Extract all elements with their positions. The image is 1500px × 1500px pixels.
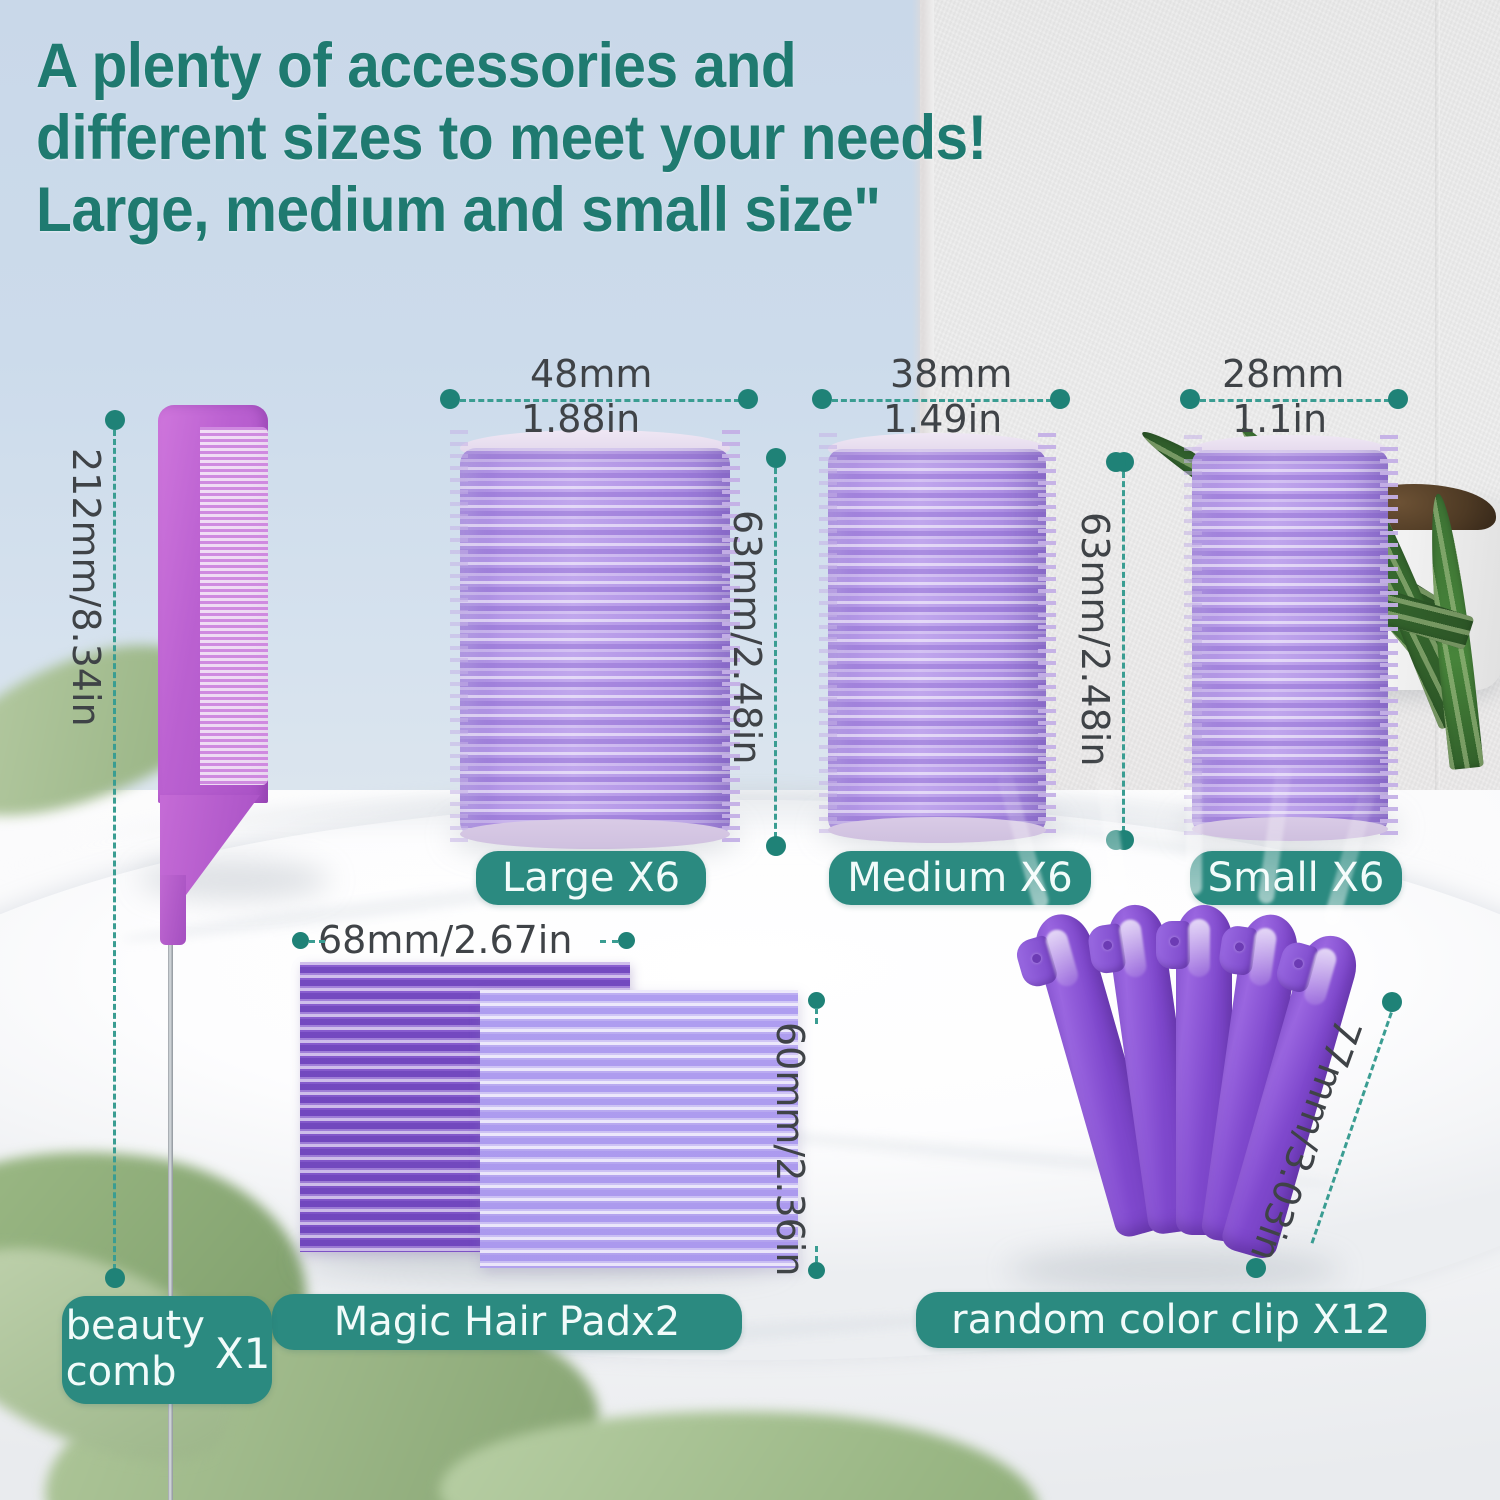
large-roller-label-text: Large X6 (502, 855, 680, 901)
dim-dot-pad-top (808, 992, 825, 1009)
roller-body (460, 448, 730, 838)
roller-body (828, 449, 1046, 833)
product-infographic: A plenty of accessories and different si… (0, 0, 1500, 1500)
dim-line-medium-height (1122, 472, 1125, 832)
dim-dot-comb-bottom (105, 1268, 125, 1288)
beauty-comb-label-lines: beauty comb (66, 1303, 205, 1395)
dim-dot-medium-left (812, 389, 832, 409)
dim-comb-length: 212mm/8.34in (64, 448, 108, 727)
dim-line-pad-height-b (815, 1246, 818, 1262)
hair-pad-label: Magic Hair Padx2 (272, 1294, 742, 1350)
dim-dot-large-bottom (766, 836, 786, 856)
comb-teeth (200, 427, 268, 785)
beauty-comb-label: beauty comb X1 (62, 1296, 272, 1404)
dim-dot-small-top (1106, 452, 1126, 472)
dim-dot-clip-top (1382, 992, 1402, 1012)
headline-line-2: different sizes to meet your needs! (36, 102, 1245, 174)
dim-small-in: 1.1in (1232, 397, 1327, 441)
dim-dot-small-left (1180, 389, 1200, 409)
small-roller-label: Small X6 (1190, 851, 1402, 905)
dim-line-comb (113, 430, 116, 1270)
dim-dot-comb-top (105, 410, 125, 430)
hair-pad-label-text: Magic Hair Padx2 (334, 1299, 680, 1345)
comb-tail-base (160, 875, 186, 945)
dim-dot-small-right (1388, 389, 1408, 409)
beauty-comb-qty: X1 (215, 1321, 271, 1378)
medium-roller-label: Medium X6 (829, 851, 1091, 905)
headline-line-1: A plenty of accessories and (36, 30, 1245, 102)
dim-large-height: 63mm/2.48in (725, 510, 769, 764)
hair-pad-light (480, 990, 798, 1268)
clip-highlight (1188, 919, 1210, 977)
dim-dot-large-right (738, 389, 758, 409)
large-roller (460, 430, 730, 845)
hair-clip-label: random color clip X12 (916, 1292, 1426, 1348)
dim-dot-pad-left (292, 932, 309, 949)
dim-large-in: 1.88in (521, 397, 640, 441)
dim-pad-height: 60mm/2.36in (768, 1022, 812, 1276)
dim-line-pad-height (815, 1008, 818, 1024)
roller-bristles (1380, 435, 1398, 839)
beauty-comb (150, 405, 280, 1285)
dim-dot-clip-bottom (1246, 1258, 1266, 1278)
dim-dot-large-left (440, 389, 460, 409)
roller-bristles (450, 430, 468, 845)
dim-dot-pad-bottom (808, 1262, 825, 1279)
roller-cap-bottom (460, 819, 730, 849)
small-roller-label-text: Small X6 (1208, 855, 1385, 901)
headline-line-3: Large, medium and small size" (36, 174, 1245, 246)
dim-medium-in: 1.49in (883, 397, 1002, 441)
dim-line-large-height (774, 468, 777, 838)
dim-large-mm: 48mm (530, 352, 652, 396)
beauty-comb-label-line2: comb (66, 1349, 205, 1395)
hair-clip-label-text: random color clip X12 (951, 1297, 1391, 1343)
roller-bristles (819, 433, 837, 841)
large-roller-label: Large X6 (476, 851, 706, 905)
headline: A plenty of accessories and different si… (36, 30, 1245, 246)
dim-line-pad-width-left (309, 940, 325, 943)
beauty-comb-label-line1: beauty (66, 1303, 205, 1349)
roller-bristles (1038, 433, 1056, 841)
dim-small-mm: 28mm (1222, 352, 1344, 396)
clip-pin (1170, 937, 1179, 946)
dim-dot-pad-right (618, 932, 635, 949)
dim-dot-large-top (766, 448, 786, 468)
dim-medium-mm: 38mm (890, 352, 1012, 396)
clip-highlight (1186, 755, 1202, 895)
dim-pad-width: 68mm/2.67in (318, 918, 572, 962)
dim-medium-height: 63mm/2.48in (1073, 512, 1117, 766)
dim-line-pad-width-right (600, 940, 618, 943)
dim-dot-medium-right (1050, 389, 1070, 409)
